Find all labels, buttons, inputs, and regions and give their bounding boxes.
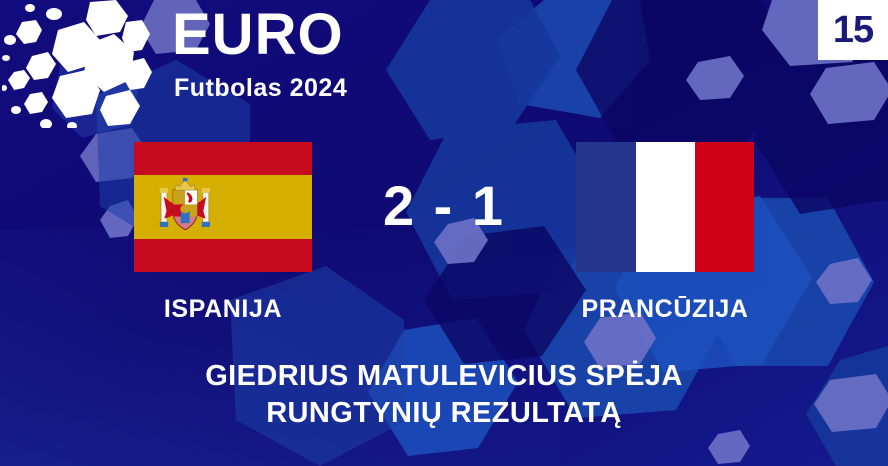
caption-line-1: GIEDRIUS MATULEVICIUS SPĖJA: [0, 358, 888, 395]
home-team-flag: [134, 142, 312, 272]
page-subtitle: Futbolas 2024: [174, 74, 347, 102]
away-team-name: PRANCŪZIJA: [576, 294, 754, 324]
away-team-flag: [576, 142, 754, 272]
status-badge: 15: [818, 0, 888, 60]
home-team-name: ISPANIJA: [134, 294, 312, 324]
page-title: EURO: [172, 4, 344, 66]
spain-flag-icon: [134, 142, 312, 272]
match-score: 2 - 1: [312, 170, 576, 242]
euro-match-result-graphic: EURO Futbolas 2024 15: [0, 0, 888, 466]
caption: GIEDRIUS MATULEVICIUS SPĖJA RUNGTYNIŲ RE…: [0, 358, 888, 432]
france-flag-icon: [576, 142, 754, 272]
caption-line-2: RUNGTYNIŲ REZULTATĄ: [0, 395, 888, 432]
soccer-ball-icon: [2, 0, 152, 128]
badge-number: 15: [833, 10, 873, 50]
header: EURO Futbolas 2024: [0, 0, 888, 120]
